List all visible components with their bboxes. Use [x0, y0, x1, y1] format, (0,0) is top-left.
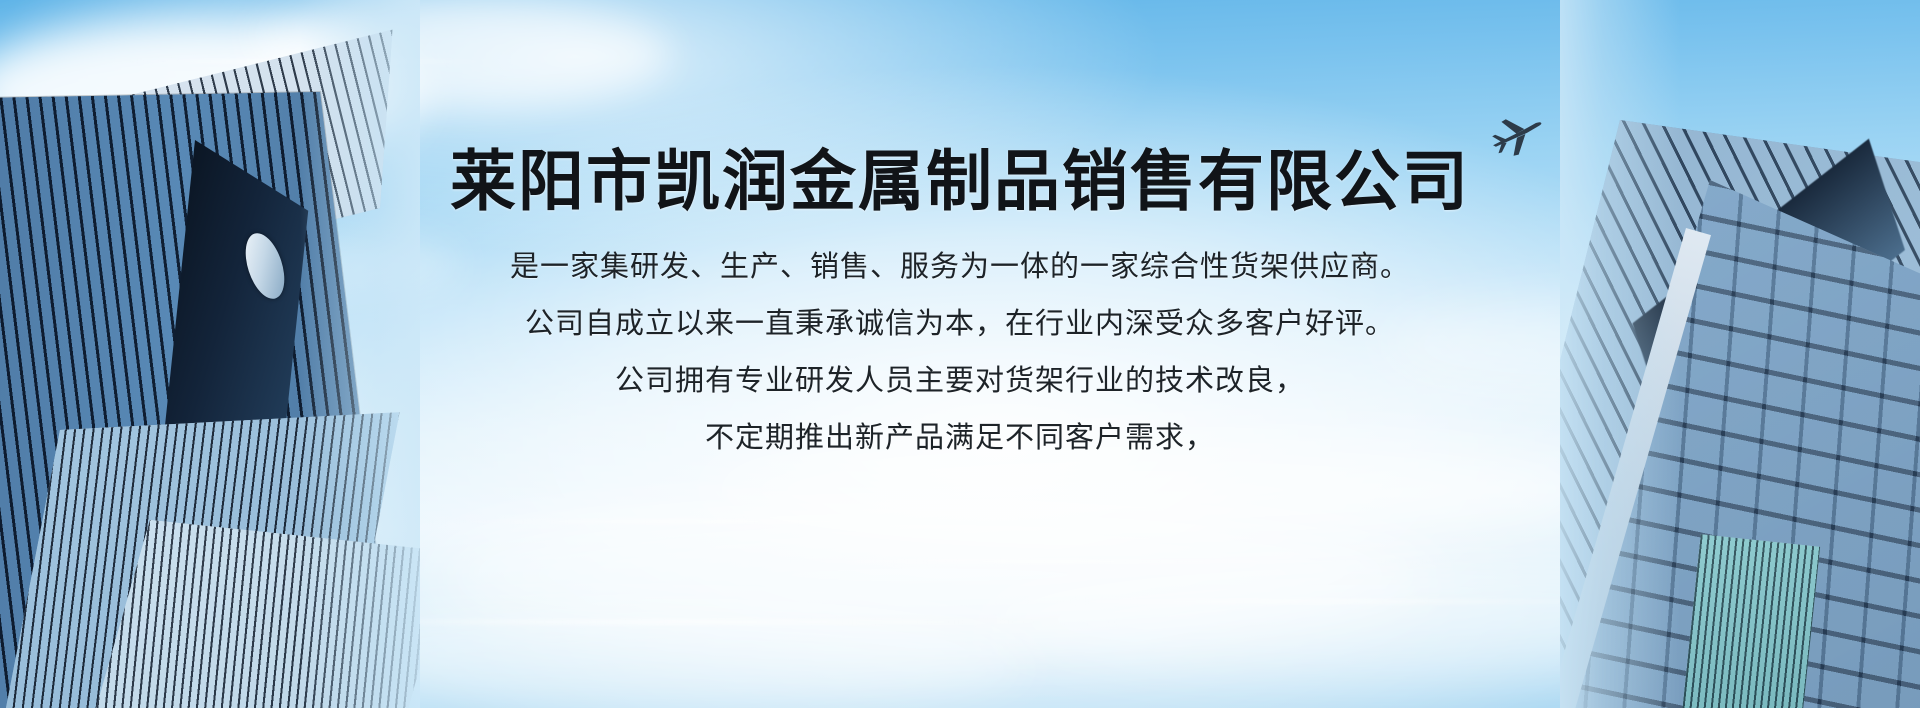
- company-description-block: 是一家集研发、生产、销售、服务为一体的一家综合性货架供应商。 公司自成立以来一直…: [510, 248, 1410, 459]
- description-line-2: 公司自成立以来一直秉承诚信为本，在行业内深受众多客户好评。: [525, 305, 1395, 344]
- company-hero-banner: 莱阳市凯润金属制品销售有限公司 是一家集研发、生产、销售、服务为一体的一家综合性…: [0, 0, 1920, 708]
- banner-text-content: 莱阳市凯润金属制品销售有限公司 是一家集研发、生产、销售、服务为一体的一家综合性…: [0, 0, 1920, 708]
- description-line-1: 是一家集研发、生产、销售、服务为一体的一家综合性货架供应商。: [510, 248, 1410, 287]
- company-name-headline: 莱阳市凯润金属制品销售有限公司: [450, 148, 1470, 214]
- description-line-4: 不定期推出新产品满足不同客户需求，: [705, 419, 1215, 458]
- description-line-3: 公司拥有专业研发人员主要对货架行业的技术改良，: [615, 362, 1305, 401]
